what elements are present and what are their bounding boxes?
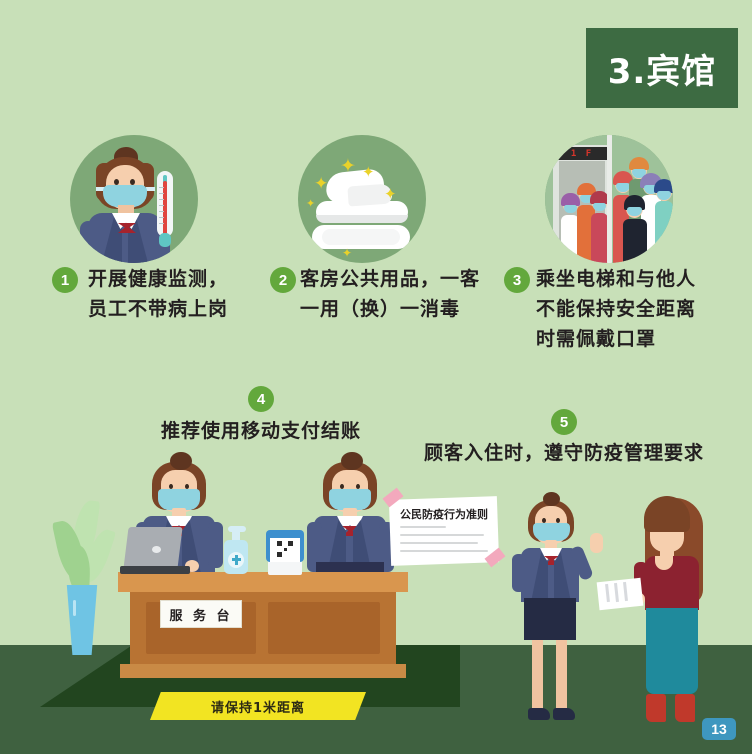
- thermometer-tick: [159, 205, 164, 206]
- towel-bottom-inner: [322, 229, 400, 245]
- infographic-poster: 3.宾馆: [0, 0, 752, 754]
- thermometer-tick: [159, 193, 164, 194]
- thermometer-tick: [159, 223, 164, 224]
- boot-left: [646, 694, 666, 722]
- leg-left: [532, 640, 543, 712]
- page-title: 3.宾馆: [608, 44, 717, 93]
- reception-desk-base: [120, 664, 406, 678]
- laptop-logo: [152, 546, 161, 553]
- arm-right: [208, 522, 223, 568]
- arm-left: [512, 554, 526, 592]
- item-text-3: 乘坐电梯和与他人 不能保持安全距离 时需佩戴口罩: [536, 264, 736, 354]
- face-mask-icon: [103, 185, 147, 207]
- sparkle-icon: ✦: [362, 165, 375, 180]
- service-desk-sign: 服 务 台: [160, 600, 242, 628]
- elevator-floor-value: 1 F: [571, 149, 593, 159]
- item-text-1: 开展健康监测， 员工不带病上岗: [88, 264, 278, 324]
- poster-line: [400, 550, 488, 552]
- staff-thermometer-icon: [70, 135, 198, 263]
- sparkle-icon: ✦: [384, 187, 397, 202]
- face-mask-icon: [533, 523, 570, 541]
- elevator-door-edge: [607, 135, 612, 263]
- item-badge-3: 3: [504, 267, 530, 293]
- guest-pants: [646, 608, 698, 694]
- qr-code-icon: [277, 541, 293, 557]
- desk-panel-right: [268, 602, 380, 654]
- item-badge-1: 1: [52, 267, 78, 293]
- item-badge-5: 5: [551, 409, 577, 435]
- thermometer-tick: [159, 187, 164, 188]
- poster-line: [400, 542, 478, 544]
- towel-middle-shadow: [316, 215, 408, 223]
- vase-highlight: [73, 600, 76, 616]
- thermometer-mercury: [163, 181, 167, 235]
- thermometer-icon: [157, 171, 173, 247]
- thermometer-tick: [159, 199, 164, 200]
- hair-bun: [341, 452, 363, 470]
- poster-line: [400, 534, 484, 536]
- item-text-2: 客房公共用品，一客 一用（换）一消毒: [300, 264, 510, 324]
- person-body: [623, 219, 647, 263]
- folded-towels-icon: ✦ ✦ ✦ ✦ ✦ ✦: [298, 135, 426, 263]
- uniform-skirt: [524, 598, 576, 640]
- laptop-base: [120, 566, 190, 574]
- title-banner: 3.宾馆: [586, 28, 738, 108]
- person-body: [655, 201, 673, 263]
- elevator-floor-display: 1 F: [557, 147, 607, 160]
- leg-right: [556, 640, 567, 712]
- item-badge-4: 4: [248, 386, 274, 412]
- thermometer-tick: [159, 211, 164, 212]
- thermometer-tip: [159, 233, 171, 247]
- person-body: [591, 213, 608, 263]
- guest-documents: [597, 578, 644, 610]
- elevator-crowd-icon: 1 F: [545, 135, 673, 263]
- hair-bun: [543, 492, 560, 506]
- floor-distance-tape: 请保持1米距离: [150, 692, 366, 720]
- page-number-badge: 13: [702, 718, 736, 740]
- sparkle-icon: ✦: [314, 175, 328, 192]
- poster-line: [400, 526, 446, 528]
- hair-bun: [170, 452, 192, 470]
- sparkle-icon: ✦: [306, 199, 315, 210]
- wall-poster-title: 公民防疫行为准则: [398, 506, 490, 522]
- face-mask-icon: [329, 489, 371, 510]
- item-badge-2: 2: [270, 267, 296, 293]
- item-text-5: 顾客入住时，遵守防疫管理要求: [414, 438, 714, 468]
- floor-distance-text: 请保持1米距离: [211, 697, 305, 716]
- sanitizer-cross-icon: [232, 558, 241, 561]
- shoe-left: [528, 708, 550, 720]
- hand-pointing-up: [590, 533, 603, 553]
- thermometer-tick: [159, 217, 164, 218]
- shoe-right: [553, 708, 575, 720]
- mask-band-right: [146, 187, 155, 191]
- boot-right: [675, 694, 695, 722]
- face-mask-icon: [158, 489, 200, 510]
- service-desk-sign-text: 服 务 台: [169, 605, 232, 624]
- sparkle-icon: ✦: [340, 157, 356, 176]
- sparkle-icon: ✦: [342, 247, 352, 259]
- reception-desk-top: [118, 572, 408, 592]
- item-text-4: 推荐使用移动支付结账: [151, 416, 371, 446]
